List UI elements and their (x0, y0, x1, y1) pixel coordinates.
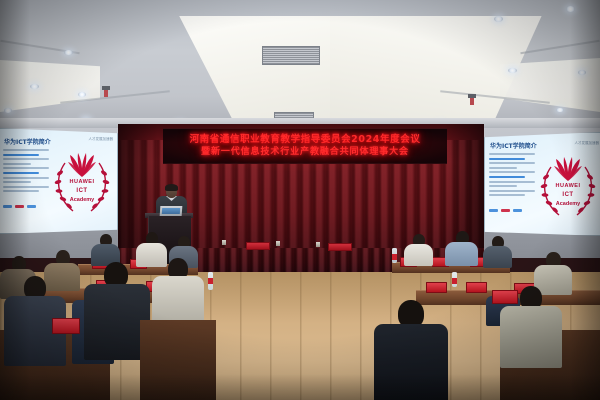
sprinkler-icon (104, 88, 108, 97)
logo-brand: HUAWEI (537, 183, 599, 189)
water-bottle (452, 272, 457, 287)
audience-nameplate (466, 282, 487, 293)
downlight-icon (64, 50, 73, 55)
ceiling (0, 0, 600, 128)
water-bottle (208, 272, 213, 290)
downlight-icon (78, 92, 86, 97)
logo-line-3: Academy (537, 201, 599, 207)
audience-table (140, 320, 216, 400)
microphone-icon (316, 242, 320, 247)
logo-brand: HUAWEI (51, 179, 113, 185)
slide-body-text (3, 149, 49, 195)
led-banner: 河南省通信职业教育教学指导委员会2024年度会议 暨新一代信息技术行业产教融合共… (163, 128, 447, 164)
slide-chips (3, 205, 36, 208)
downlight-icon (508, 68, 517, 73)
slide-body-text (489, 153, 535, 199)
logo-line-2: ICT (537, 192, 599, 198)
hvac-vent (262, 46, 320, 65)
downlight-icon (578, 70, 586, 75)
downlight-icon (566, 6, 575, 12)
head-table-nameplate (328, 243, 352, 251)
audience-nameplate (426, 282, 447, 293)
downlight-icon (494, 16, 503, 22)
projection-screen-left: 华为ICT学院简介 人才发展加速器 (0, 128, 118, 234)
projection-screen-right: 华为ICT学院简介 人才发展加速器 (484, 132, 600, 236)
podium-laptop (160, 206, 183, 216)
ceiling-groove (520, 40, 599, 54)
downlight-icon (4, 108, 12, 113)
slide-chips (489, 209, 522, 212)
slide-badge: 人才发展加速器 (575, 141, 600, 146)
huawei-ict-academy-logo: HUAWEI ICT Academy (537, 153, 599, 227)
downlight-icon (556, 108, 564, 112)
audience-nameplate (52, 318, 80, 334)
conference-hall-photo: 河南省通信职业教育教学指导委员会2024年度会议 暨新一代信息技术行业产教融合共… (0, 0, 600, 400)
banner-line-1: 河南省通信职业教育教学指导委员会2024年度会议 (190, 133, 421, 146)
sprinkler-icon (470, 96, 474, 105)
downlight-icon (30, 84, 39, 89)
head-table-nameplate (246, 242, 270, 250)
speaker-hair (165, 184, 178, 191)
logo-line-3: Academy (51, 197, 113, 203)
microphone-icon (222, 240, 226, 245)
slide-title: 华为ICT学院简介 (490, 141, 537, 150)
slide-title: 华为ICT学院简介 (4, 137, 51, 146)
logo-line-2: ICT (51, 188, 113, 194)
huawei-ict-academy-logo: HUAWEI ICT Academy (51, 149, 113, 223)
microphone-icon (276, 241, 280, 246)
audience-nameplate (492, 290, 518, 304)
banner-line-2: 暨新一代信息技术行业产教融合共同体理事大会 (201, 146, 409, 159)
slide-badge: 人才发展加速器 (89, 137, 114, 142)
ceiling-light-panel-far-left (0, 60, 100, 112)
ceiling-light-panel-far-right (500, 58, 600, 112)
water-bottle (392, 248, 397, 263)
